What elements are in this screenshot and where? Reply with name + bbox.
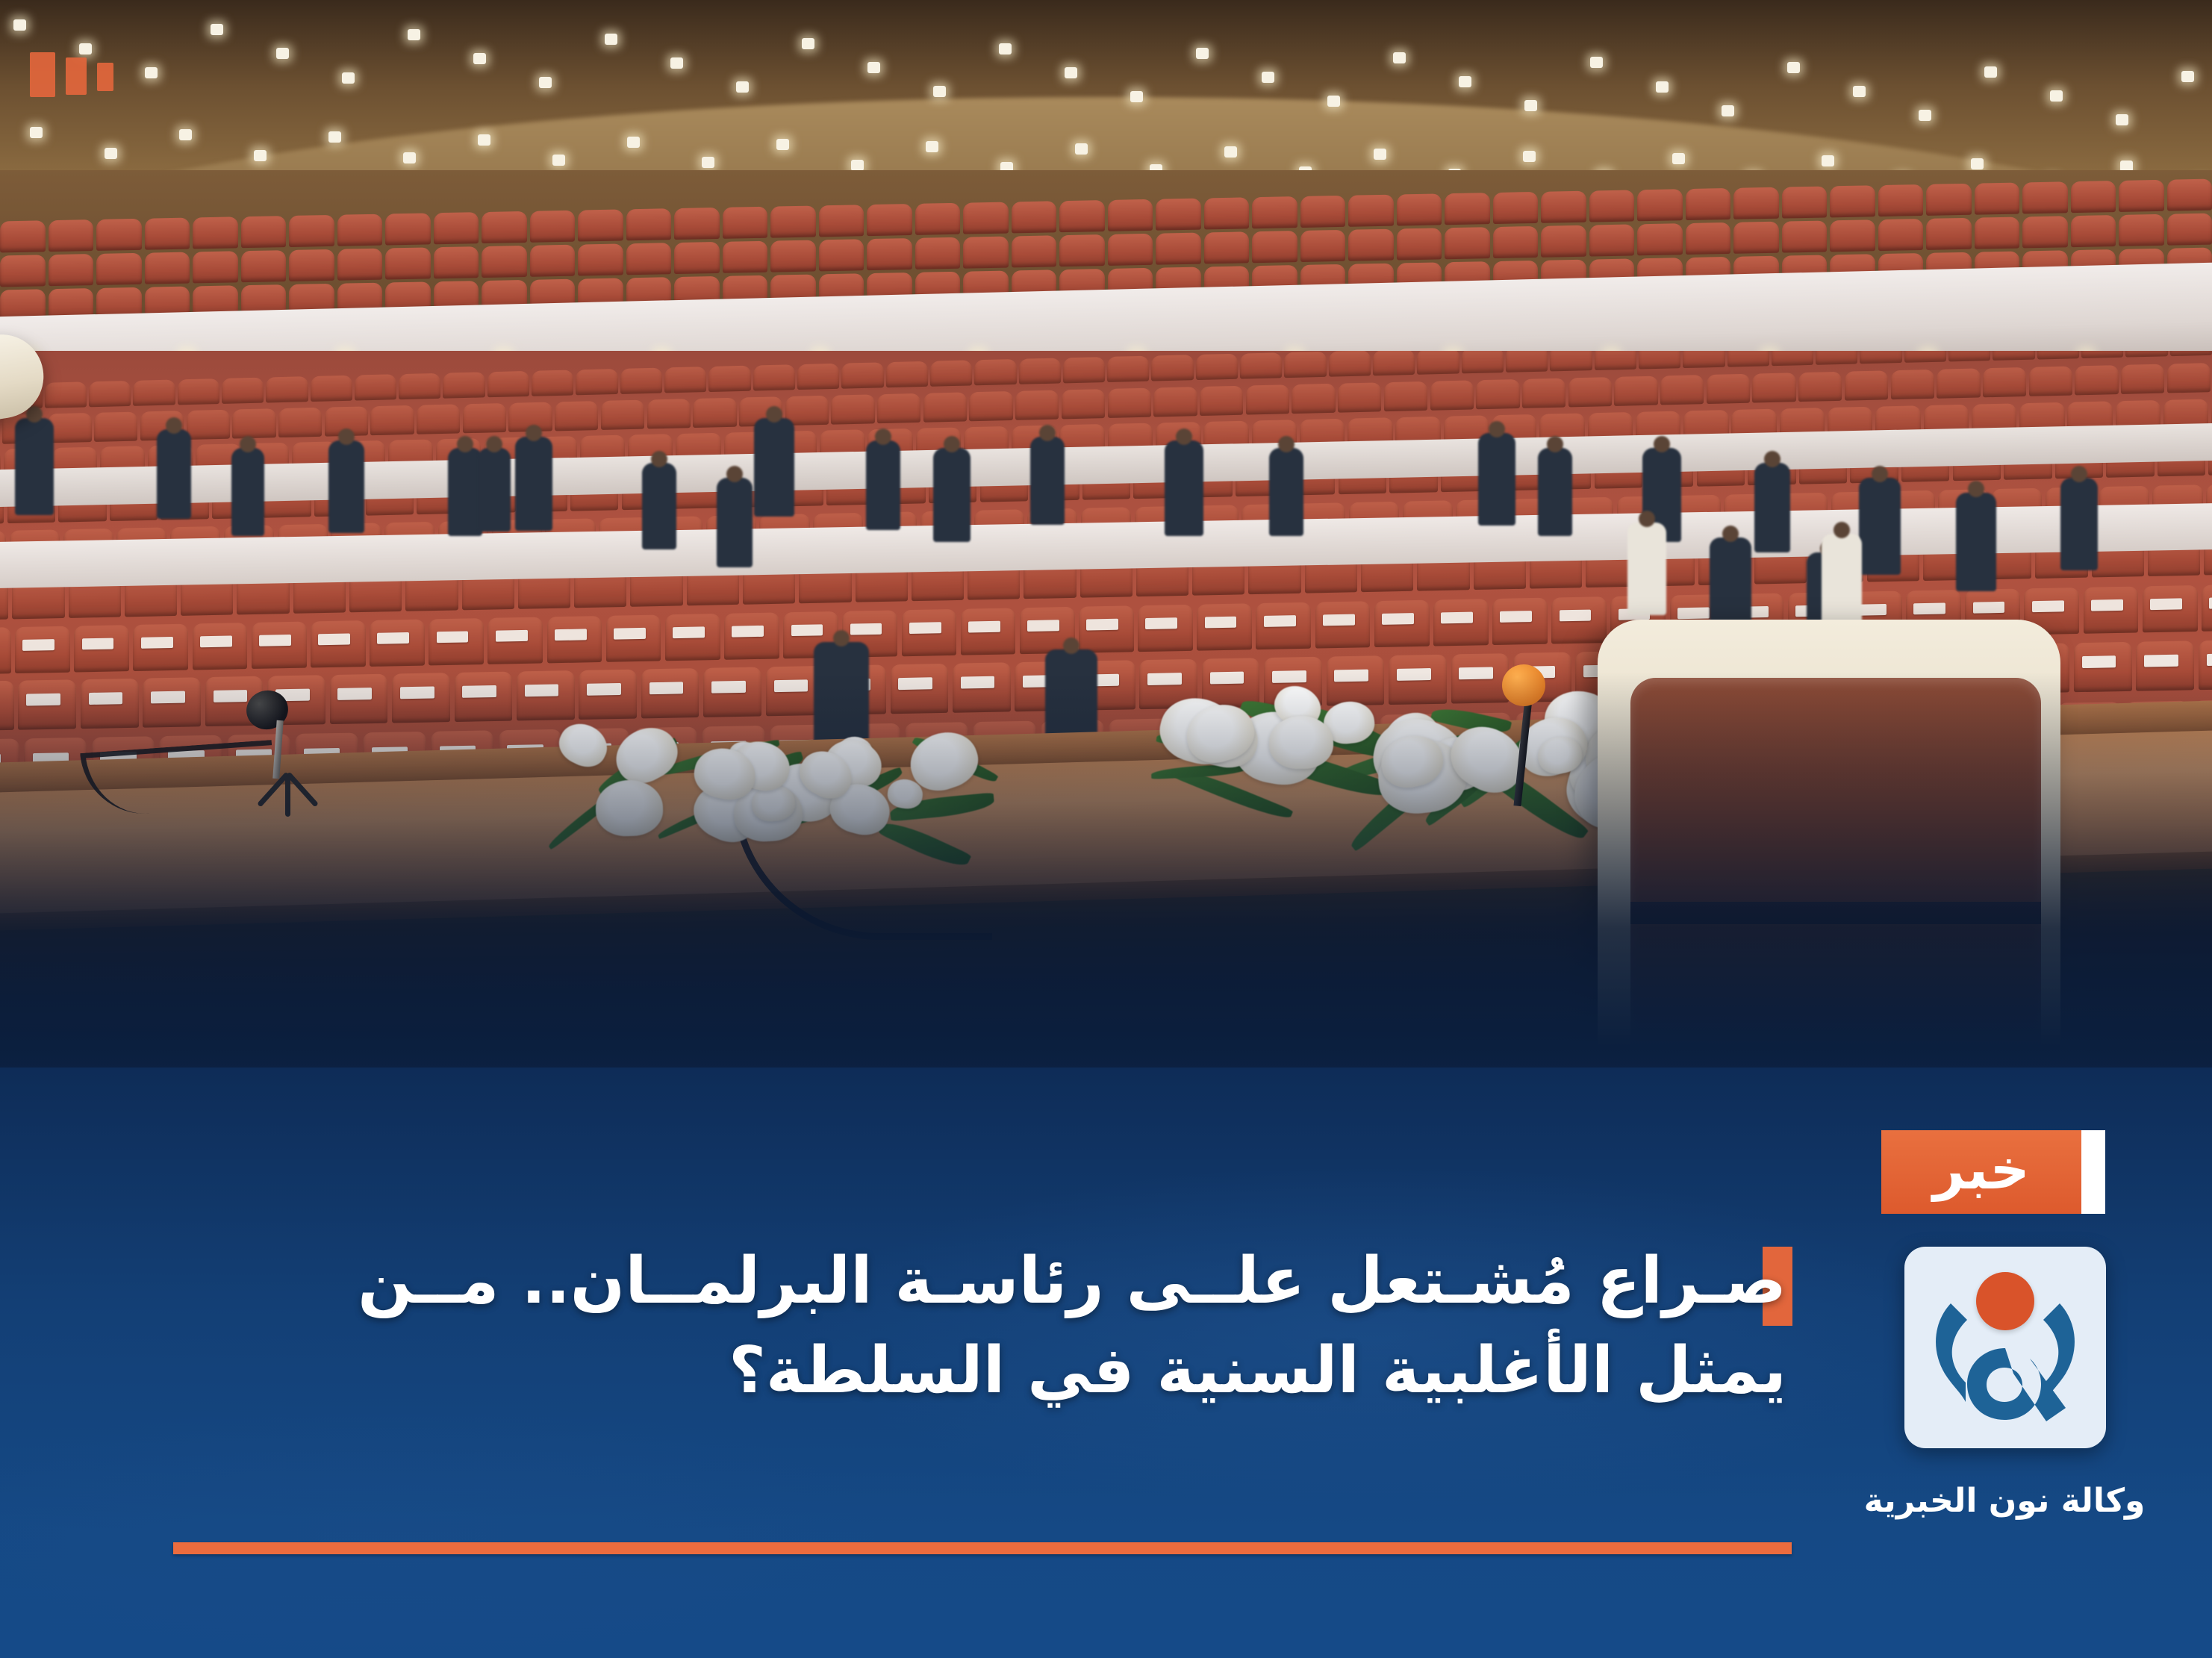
seat bbox=[94, 411, 137, 441]
seat bbox=[2125, 351, 2167, 358]
seat bbox=[785, 395, 828, 425]
seat bbox=[1374, 599, 1430, 646]
seat bbox=[370, 619, 425, 666]
seat bbox=[1733, 187, 1779, 219]
seat bbox=[1830, 185, 1875, 217]
downlight bbox=[1075, 143, 1088, 155]
downlight bbox=[1656, 81, 1669, 93]
seat bbox=[1018, 358, 1060, 384]
seat bbox=[723, 241, 768, 273]
seat bbox=[15, 626, 70, 673]
seat bbox=[867, 204, 912, 236]
attendee bbox=[717, 478, 753, 567]
name-placard bbox=[22, 639, 54, 651]
name-placard bbox=[141, 637, 173, 649]
seat bbox=[1063, 357, 1105, 383]
seat bbox=[1197, 603, 1252, 650]
attendee bbox=[231, 448, 264, 536]
seat bbox=[2121, 364, 2164, 393]
seat bbox=[1926, 184, 1972, 216]
seat bbox=[193, 216, 238, 249]
seat bbox=[901, 608, 956, 655]
headline: صـراع مُشـتعل علــى رئاسـة البرلمــان.. … bbox=[166, 1239, 1786, 1413]
seat bbox=[1397, 193, 1442, 225]
downlight bbox=[1130, 91, 1143, 102]
seat bbox=[192, 623, 247, 670]
name-placard bbox=[1323, 614, 1355, 626]
seat bbox=[1156, 199, 1201, 231]
seat bbox=[1541, 191, 1586, 223]
downlight bbox=[2050, 90, 2063, 102]
seat bbox=[1338, 382, 1381, 412]
attendee bbox=[1478, 433, 1515, 526]
seat bbox=[337, 249, 383, 281]
downlight bbox=[933, 86, 946, 97]
seat bbox=[1433, 599, 1489, 646]
headline-line-1: صـراع مُشـتعل علــى رئاسـة البرلمــان.. … bbox=[166, 1239, 1786, 1324]
seat bbox=[601, 399, 644, 429]
seat bbox=[2071, 215, 2116, 247]
seat bbox=[266, 376, 308, 402]
name-placard bbox=[791, 624, 823, 636]
downlight bbox=[478, 134, 490, 146]
seat bbox=[1252, 196, 1297, 228]
downlight bbox=[105, 148, 117, 159]
downlight bbox=[776, 139, 789, 150]
seat bbox=[278, 407, 322, 437]
seat bbox=[1476, 379, 1519, 409]
seat bbox=[576, 369, 617, 395]
attendee bbox=[1165, 440, 1203, 536]
seat bbox=[1245, 384, 1289, 414]
seat bbox=[186, 409, 229, 439]
seat bbox=[530, 245, 576, 277]
seat bbox=[89, 381, 131, 407]
attendee bbox=[157, 429, 191, 519]
downlight bbox=[276, 48, 289, 59]
seat bbox=[1108, 234, 1153, 266]
name-placard bbox=[968, 621, 1000, 633]
seat bbox=[1493, 192, 1539, 224]
seat bbox=[1686, 188, 1731, 220]
name-placard bbox=[2150, 598, 2182, 610]
downlight bbox=[145, 67, 158, 78]
headline-line-2: يمثل الأغلبية السنية في السلطة؟ bbox=[166, 1329, 1786, 1414]
seat bbox=[193, 251, 238, 283]
seat bbox=[923, 392, 967, 422]
seat bbox=[674, 208, 720, 240]
seat bbox=[1153, 387, 1197, 417]
seat bbox=[145, 218, 190, 250]
downlight bbox=[1822, 155, 1834, 166]
downlight bbox=[1374, 149, 1386, 160]
downlight bbox=[211, 24, 223, 35]
attendee bbox=[1754, 463, 1790, 552]
seat bbox=[841, 362, 883, 388]
seat bbox=[693, 397, 736, 427]
attendee bbox=[478, 448, 511, 532]
name-placard bbox=[318, 633, 350, 645]
seat bbox=[1550, 351, 1592, 371]
seat bbox=[1348, 229, 1394, 261]
seat bbox=[289, 249, 334, 281]
attendee bbox=[1710, 537, 1751, 633]
downlight bbox=[403, 152, 416, 163]
seat bbox=[1637, 223, 1683, 255]
downlight bbox=[552, 155, 565, 166]
name-placard bbox=[1027, 620, 1059, 632]
seat bbox=[145, 252, 190, 284]
seat bbox=[2075, 365, 2118, 395]
name-placard bbox=[81, 638, 113, 649]
seat bbox=[311, 620, 366, 667]
downlight bbox=[254, 150, 267, 161]
name-placard bbox=[1204, 616, 1236, 628]
name-placard bbox=[1500, 611, 1532, 623]
name-placard bbox=[2091, 599, 2123, 611]
seat bbox=[1240, 352, 1282, 378]
seat bbox=[1108, 199, 1153, 231]
name-placard bbox=[1677, 607, 1710, 619]
downlight bbox=[1722, 105, 1734, 116]
three-bars-watermark-icon bbox=[30, 52, 113, 97]
downlight bbox=[1327, 96, 1340, 107]
seat bbox=[1300, 196, 1346, 228]
downlight bbox=[736, 81, 749, 93]
seat bbox=[1015, 390, 1059, 420]
seat bbox=[1204, 197, 1250, 229]
seat bbox=[1059, 234, 1105, 267]
seat bbox=[462, 403, 505, 433]
seat bbox=[1012, 201, 1057, 233]
seat bbox=[177, 378, 219, 405]
seat bbox=[1589, 224, 1635, 256]
seat bbox=[819, 239, 864, 271]
seat bbox=[1594, 351, 1636, 370]
downlight bbox=[539, 77, 552, 88]
agency-name: وكالة نون الخبرية bbox=[1814, 1482, 2195, 1520]
seat bbox=[530, 211, 576, 243]
seat bbox=[2143, 585, 2198, 632]
seat bbox=[930, 360, 972, 386]
downlight bbox=[851, 160, 864, 171]
seat bbox=[960, 608, 1015, 655]
name-placard bbox=[2206, 654, 2212, 667]
downlight bbox=[1393, 52, 1406, 63]
seat bbox=[1686, 222, 1731, 255]
seat bbox=[1878, 184, 1924, 216]
seat bbox=[626, 243, 672, 275]
seat bbox=[1975, 183, 2020, 215]
seat bbox=[2167, 214, 2212, 246]
seat bbox=[370, 405, 414, 434]
seat bbox=[1252, 231, 1297, 263]
seat bbox=[434, 246, 479, 278]
seat bbox=[2081, 351, 2123, 358]
seat bbox=[2022, 216, 2068, 248]
seat bbox=[1107, 387, 1150, 417]
seat bbox=[1328, 351, 1370, 377]
seat bbox=[96, 253, 142, 285]
seat bbox=[1639, 351, 1680, 370]
seat bbox=[2167, 179, 2212, 211]
downlight bbox=[1672, 153, 1685, 164]
downlight bbox=[2181, 71, 2194, 82]
seat bbox=[241, 216, 287, 248]
seat bbox=[1890, 369, 1934, 399]
name-placard bbox=[1441, 611, 1473, 623]
seat bbox=[1845, 370, 1888, 400]
seat bbox=[1706, 373, 1749, 403]
name-placard bbox=[2032, 600, 2064, 612]
downlight bbox=[999, 43, 1012, 54]
attendee bbox=[1822, 534, 1862, 629]
seat bbox=[1948, 351, 1990, 361]
seat bbox=[1614, 375, 1657, 405]
seat bbox=[1348, 195, 1394, 227]
seat bbox=[222, 378, 264, 404]
seat bbox=[1733, 222, 1779, 254]
seat bbox=[2028, 366, 2072, 396]
name-placard bbox=[200, 635, 232, 647]
downlight bbox=[408, 29, 420, 40]
seat bbox=[337, 214, 383, 246]
seat bbox=[1506, 351, 1548, 373]
seat bbox=[2083, 586, 2138, 633]
seat bbox=[1445, 193, 1490, 225]
seat bbox=[1200, 385, 1243, 415]
seat bbox=[1904, 351, 1946, 363]
seat bbox=[915, 203, 961, 235]
seat bbox=[0, 627, 11, 674]
seat bbox=[665, 614, 720, 661]
seat bbox=[1727, 351, 1769, 367]
seat bbox=[723, 207, 768, 239]
seat bbox=[963, 237, 1009, 269]
attendee bbox=[754, 418, 794, 517]
downlight bbox=[1919, 110, 1931, 121]
downlight bbox=[1262, 72, 1274, 83]
seat bbox=[963, 202, 1009, 234]
seat bbox=[1683, 351, 1725, 368]
seat bbox=[1430, 380, 1473, 410]
seat bbox=[1012, 235, 1057, 267]
news-badge: خبر bbox=[1881, 1130, 2105, 1214]
downlight bbox=[1196, 48, 1209, 59]
seat bbox=[770, 205, 816, 237]
seat bbox=[1204, 231, 1250, 264]
name-placard bbox=[1145, 617, 1177, 629]
seat bbox=[1782, 220, 1828, 252]
seat bbox=[969, 391, 1012, 421]
name-placard bbox=[259, 635, 291, 646]
name-placard bbox=[377, 632, 409, 644]
attendee bbox=[328, 440, 364, 533]
name-placard bbox=[1264, 615, 1296, 627]
downlight bbox=[1524, 100, 1537, 111]
seat bbox=[1138, 604, 1193, 651]
seat bbox=[1816, 351, 1857, 365]
seat bbox=[708, 366, 750, 392]
name-placard bbox=[1972, 602, 2004, 614]
downlight bbox=[13, 19, 26, 31]
seat bbox=[1937, 368, 1980, 398]
downlight bbox=[670, 57, 683, 69]
downlight bbox=[1523, 151, 1536, 162]
seat bbox=[48, 413, 91, 443]
seat bbox=[605, 614, 661, 661]
seat bbox=[546, 616, 602, 663]
seat bbox=[2037, 351, 2078, 360]
seat bbox=[831, 394, 874, 424]
name-placard bbox=[555, 629, 587, 641]
seat bbox=[241, 250, 287, 282]
seat bbox=[1492, 597, 1548, 644]
seat bbox=[877, 393, 920, 423]
downlight bbox=[1853, 86, 1866, 97]
downlight bbox=[2116, 114, 2128, 125]
attendee bbox=[866, 440, 900, 530]
seat bbox=[1589, 190, 1635, 222]
downlight bbox=[342, 72, 355, 84]
news-badge-label: خبر bbox=[1881, 1130, 2081, 1214]
name-placard bbox=[673, 626, 705, 638]
seat bbox=[1284, 352, 1326, 378]
attendee bbox=[1627, 523, 1666, 615]
name-placard bbox=[1382, 613, 1414, 625]
seat bbox=[1300, 230, 1346, 262]
bottom-rule bbox=[173, 1542, 1792, 1554]
seat bbox=[1860, 351, 1901, 364]
seat bbox=[1315, 601, 1370, 648]
seat bbox=[555, 401, 598, 431]
attendee bbox=[642, 463, 676, 549]
seat bbox=[578, 243, 623, 275]
seat bbox=[289, 215, 334, 247]
seat bbox=[232, 408, 275, 438]
seat bbox=[797, 364, 839, 390]
downlight bbox=[1065, 67, 1077, 78]
downlight bbox=[1984, 66, 1997, 78]
seat bbox=[620, 368, 661, 394]
downlight bbox=[605, 34, 617, 45]
seat bbox=[1397, 228, 1442, 260]
name-placard bbox=[495, 630, 527, 642]
seat bbox=[1196, 354, 1238, 380]
seat bbox=[867, 238, 912, 270]
seat bbox=[417, 404, 460, 434]
seat bbox=[1384, 381, 1427, 411]
seat bbox=[1461, 351, 1503, 373]
seat bbox=[885, 361, 927, 387]
name-placard bbox=[2209, 597, 2212, 609]
seat bbox=[74, 625, 129, 672]
seat bbox=[647, 399, 690, 428]
name-placard bbox=[1913, 602, 1945, 614]
seat bbox=[1830, 219, 1875, 252]
seat bbox=[487, 617, 543, 664]
seat bbox=[2167, 363, 2211, 393]
seat bbox=[434, 212, 479, 244]
seat bbox=[0, 289, 46, 320]
downlight bbox=[802, 38, 814, 49]
seat bbox=[2119, 180, 2164, 212]
seat bbox=[1637, 189, 1683, 221]
attendee bbox=[15, 418, 54, 515]
seat bbox=[399, 373, 440, 399]
downlight bbox=[1787, 62, 1800, 73]
attendee bbox=[1859, 478, 1901, 575]
downlight bbox=[179, 129, 192, 140]
seat bbox=[49, 254, 94, 286]
attendee bbox=[515, 437, 552, 531]
seat bbox=[1975, 217, 2020, 249]
seat bbox=[1752, 373, 1795, 402]
seat bbox=[487, 371, 529, 397]
seat bbox=[385, 247, 431, 279]
seat bbox=[44, 381, 86, 408]
seat bbox=[49, 219, 94, 252]
seat bbox=[2202, 584, 2212, 631]
name-placard bbox=[2144, 655, 2178, 667]
attendee bbox=[1956, 493, 1996, 591]
name-placard bbox=[2081, 656, 2116, 669]
seat bbox=[532, 370, 573, 396]
noon-agency-logo-icon bbox=[1919, 1296, 2091, 1438]
seat bbox=[819, 205, 864, 237]
name-placard bbox=[909, 622, 941, 634]
attendee bbox=[933, 448, 971, 542]
name-placard bbox=[436, 631, 468, 643]
seat bbox=[1417, 351, 1459, 375]
name-placard bbox=[614, 628, 646, 640]
seat bbox=[1079, 605, 1134, 652]
downlight bbox=[926, 141, 938, 152]
agency-logo-tile bbox=[1904, 1247, 2106, 1448]
downlight bbox=[328, 131, 341, 143]
seat bbox=[482, 211, 527, 243]
seat bbox=[1107, 356, 1149, 382]
seat bbox=[385, 213, 431, 245]
downlight bbox=[30, 127, 43, 138]
seat bbox=[1256, 602, 1311, 649]
seat bbox=[674, 242, 720, 274]
seat bbox=[482, 246, 527, 278]
downlight bbox=[1224, 146, 1237, 158]
seat bbox=[1541, 225, 1586, 258]
downlight bbox=[1459, 76, 1471, 87]
name-placard bbox=[732, 626, 764, 638]
seat bbox=[0, 255, 46, 287]
attendee bbox=[1538, 448, 1572, 536]
seat bbox=[2022, 181, 2068, 214]
seat bbox=[1798, 371, 1842, 401]
seat bbox=[1292, 383, 1335, 413]
seat bbox=[1926, 218, 1972, 250]
seat bbox=[1059, 200, 1105, 232]
name-placard bbox=[1559, 609, 1591, 621]
seat bbox=[1772, 351, 1813, 366]
downlight bbox=[702, 157, 714, 168]
seat bbox=[1373, 351, 1415, 375]
name-placard bbox=[1086, 618, 1118, 630]
seat bbox=[443, 372, 485, 398]
downlight bbox=[473, 53, 486, 64]
news-badge-strip bbox=[2081, 1130, 2105, 1214]
seat bbox=[1445, 227, 1490, 259]
attendee bbox=[1269, 448, 1303, 536]
seat bbox=[252, 621, 307, 668]
